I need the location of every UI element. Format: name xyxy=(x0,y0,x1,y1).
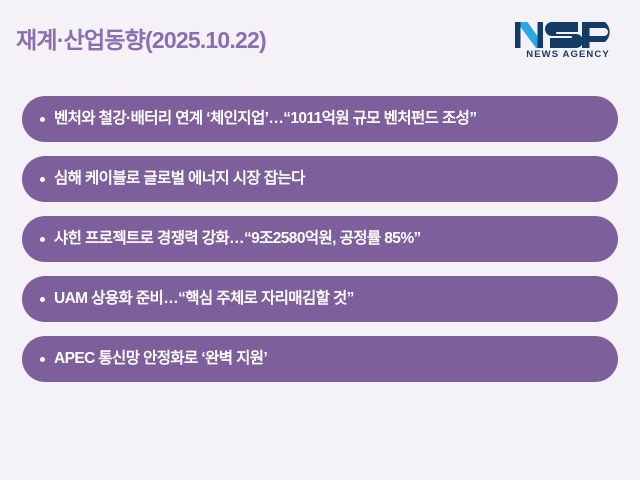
bullet-dot-icon xyxy=(40,297,45,302)
headline-item[interactable]: APEC 통신망 안정화로 ‘완벽 지원’ xyxy=(22,336,618,382)
page-header: 재계·산업동향(2025.10.22) NEWS AGENCY xyxy=(0,0,640,88)
bullet-dot-icon xyxy=(40,237,45,242)
headline-item[interactable]: 샤힌 프로젝트로 경쟁력 강화…“9조2580억원, 공정률 85%” xyxy=(22,216,618,262)
nsp-logo-tagline: NEWS AGENCY xyxy=(514,50,622,60)
nsp-logo[interactable]: NEWS AGENCY xyxy=(514,20,622,66)
headline-list: 벤처와 철강·배터리 연계 ‘체인지업’…“1011억원 규모 벤처펀드 조성”… xyxy=(22,96,618,382)
bullet-dot-icon xyxy=(40,357,45,362)
headline-text: APEC 통신망 안정화로 ‘완벽 지원’ xyxy=(54,351,600,367)
headline-item[interactable]: UAM 상용화 준비…“핵심 주체로 자리매김할 것” xyxy=(22,276,618,322)
headline-item[interactable]: 벤처와 철강·배터리 연계 ‘체인지업’…“1011억원 규모 벤처펀드 조성” xyxy=(22,96,618,142)
headline-text: 심해 케이블로 글로벌 에너지 시장 잡는다 xyxy=(54,171,600,187)
headline-text: 벤처와 철강·배터리 연계 ‘체인지업’…“1011억원 규모 벤처펀드 조성” xyxy=(54,111,600,127)
bullet-dot-icon xyxy=(40,117,45,122)
page-title: 재계·산업동향(2025.10.22) xyxy=(16,29,266,52)
bullet-dot-icon xyxy=(40,177,45,182)
headline-item[interactable]: 심해 케이블로 글로벌 에너지 시장 잡는다 xyxy=(22,156,618,202)
nsp-logo-mark xyxy=(514,20,622,50)
headline-text: UAM 상용화 준비…“핵심 주체로 자리매김할 것” xyxy=(54,291,600,307)
headline-text: 샤힌 프로젝트로 경쟁력 강화…“9조2580억원, 공정률 85%” xyxy=(54,231,600,247)
